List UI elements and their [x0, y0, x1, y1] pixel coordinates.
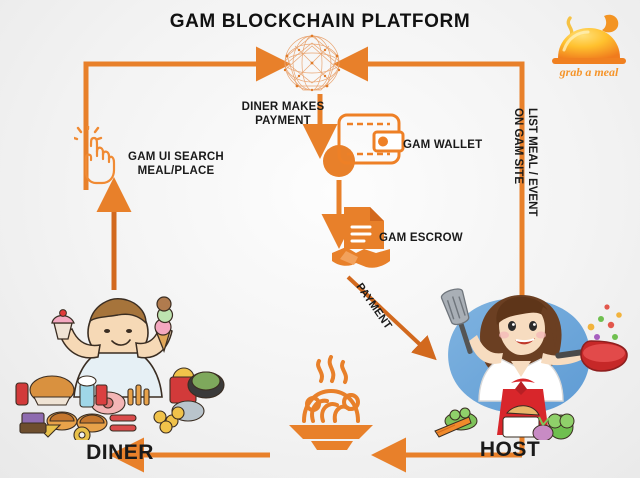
- host-chef-illustration: [415, 285, 630, 440]
- diagram-canvas: grab a meal: [0, 0, 640, 478]
- network-sphere-icon: [281, 32, 343, 94]
- label-line-2: ON GAM SITE: [510, 108, 524, 248]
- label-gam-ui-search: GAM UI SEARCH MEAL/PLACE: [122, 150, 230, 179]
- label-diner: DINER: [60, 440, 180, 466]
- label-gam-escrow: GAM ESCROW: [379, 231, 479, 245]
- label-list-meal-event: LIST MEAL / EVENT ON GAM SITE: [510, 108, 539, 248]
- page-title: GAM BLOCKCHAIN PLATFORM: [0, 10, 640, 34]
- label-host: HOST: [455, 437, 565, 463]
- logo-wordmark: grab a meal: [559, 65, 619, 79]
- label-line-2: PAYMENT: [228, 114, 338, 128]
- label-diner-makes-payment: DINER MAKES PAYMENT: [228, 100, 338, 129]
- tap-hand-icon: [74, 126, 126, 186]
- label-line-1: DINER MAKES: [228, 100, 338, 114]
- label-gam-wallet: GAM WALLET: [403, 138, 493, 152]
- label-line-1: GAM UI SEARCH: [122, 150, 230, 164]
- diner-illustration: [10, 285, 225, 440]
- label-line-2: MEAL/PLACE: [122, 164, 230, 178]
- wallet-icon: [336, 110, 406, 172]
- plate-of-pasta-icon: [275, 355, 385, 460]
- label-line-1: LIST MEAL / EVENT: [525, 108, 539, 248]
